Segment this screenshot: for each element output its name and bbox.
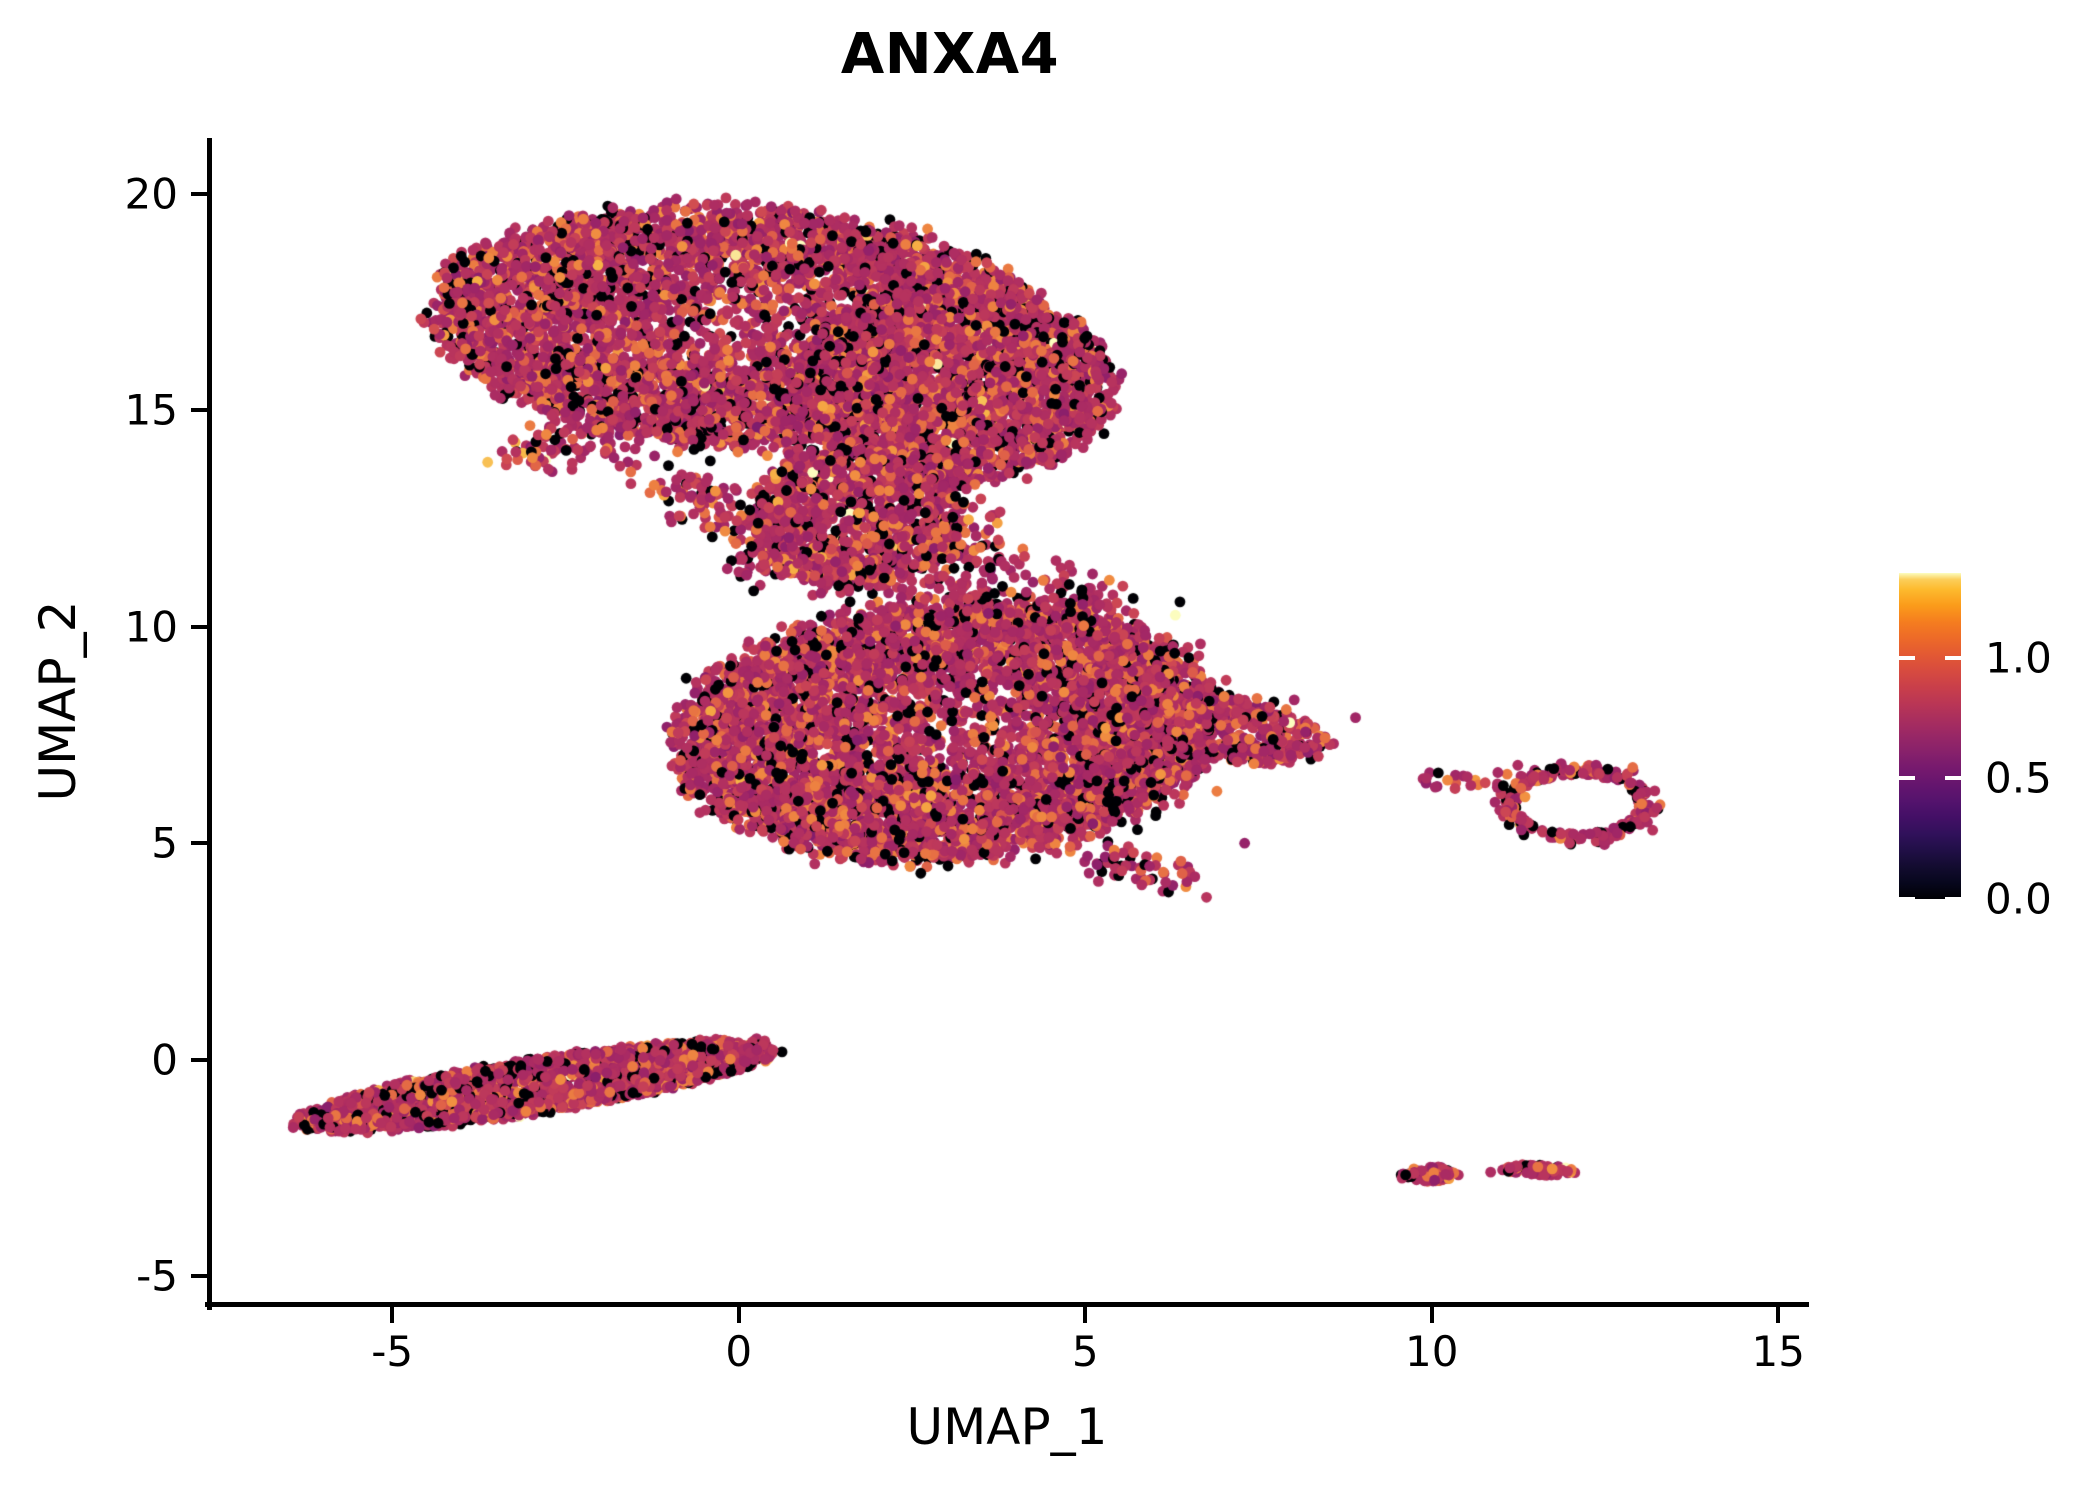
colorbar-tick-mark bbox=[1945, 656, 1961, 660]
x-tick-mark bbox=[390, 1307, 394, 1323]
x-tick-label: 10 bbox=[1405, 1327, 1458, 1376]
x-tick-label: 5 bbox=[1072, 1327, 1099, 1376]
y-tick-label: 15 bbox=[125, 386, 178, 435]
y-tick-mark bbox=[191, 408, 207, 412]
y-tick-mark bbox=[191, 1274, 207, 1278]
y-tick-label: -5 bbox=[136, 1252, 178, 1301]
x-axis-spine bbox=[205, 1302, 1809, 1307]
x-tick-mark bbox=[737, 1307, 741, 1323]
y-tick-mark bbox=[191, 1058, 207, 1062]
y-tick-mark bbox=[191, 841, 207, 845]
colorbar-tick-label: 0.5 bbox=[1985, 754, 2052, 803]
colorbar-tick-mark bbox=[1899, 656, 1915, 660]
x-tick-mark bbox=[1083, 1307, 1087, 1323]
y-tick-label: 20 bbox=[125, 169, 178, 218]
x-tick-label: -5 bbox=[371, 1327, 413, 1376]
colorbar-tick-mark bbox=[1899, 897, 1915, 901]
x-tick-label: 15 bbox=[1752, 1327, 1805, 1376]
y-tick-mark bbox=[191, 625, 207, 629]
y-axis-label: UMAP_2 bbox=[29, 381, 87, 1021]
scatter-plot-canvas bbox=[212, 142, 1806, 1302]
colorbar-tick-label: 0.0 bbox=[1985, 875, 2052, 924]
colorbar-tick-mark bbox=[1945, 776, 1961, 780]
x-axis-label: UMAP_1 bbox=[207, 1398, 1807, 1456]
colorbar: 1.0 0.5 0.0 bbox=[1899, 573, 1961, 899]
x-tick-mark bbox=[1776, 1307, 1780, 1323]
y-tick-mark bbox=[191, 192, 207, 196]
colorbar-tick-mark bbox=[1899, 776, 1915, 780]
y-tick-label: 5 bbox=[151, 819, 178, 868]
x-tick-label: 0 bbox=[725, 1327, 752, 1376]
y-tick-label: 10 bbox=[125, 602, 178, 651]
colorbar-gradient bbox=[1899, 573, 1961, 899]
colorbar-tick-label: 1.0 bbox=[1985, 633, 2052, 682]
umap-feature-plot-figure: ANXA4 -5 0 5 10 15 20 15 10 5 0 -5 UMAP_… bbox=[0, 0, 2100, 1500]
page-title: ANXA4 bbox=[0, 22, 1900, 87]
colorbar-tick-mark bbox=[1945, 897, 1961, 901]
y-tick-label: 0 bbox=[151, 1035, 178, 1084]
x-tick-mark bbox=[1430, 1307, 1434, 1323]
